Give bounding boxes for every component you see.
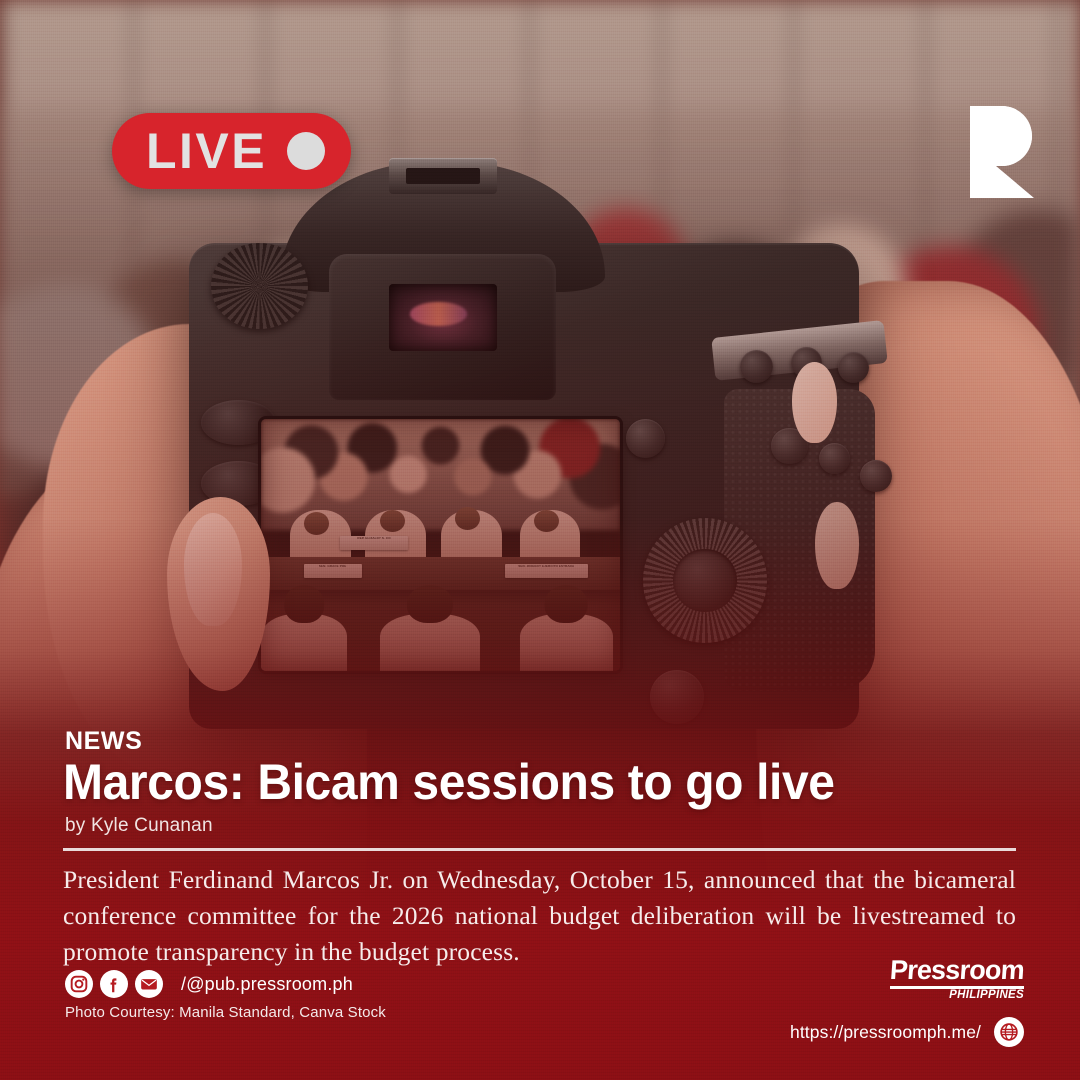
live-badge-label: LIVE — [146, 126, 267, 176]
section-kicker: NEWS — [65, 727, 142, 756]
divider — [63, 848, 1016, 851]
record-dot-icon — [287, 132, 325, 170]
article-body-text: President Ferdinand Marcos Jr. on Wednes… — [63, 865, 1016, 966]
byline: by Kyle Cunanan — [65, 815, 213, 837]
social-handle: /@pub.pressroom.ph — [181, 974, 353, 995]
article-body: President Ferdinand Marcos Jr. on Wednes… — [63, 862, 1016, 971]
website-url: https://pressroomph.me/ — [790, 1022, 981, 1043]
footer-left: /@pub.pressroom.ph Photo Courtesy: Manil… — [65, 970, 386, 1021]
pressroom-r-logomark[interactable] — [962, 98, 1042, 198]
facebook-icon[interactable] — [100, 970, 128, 998]
globe-icon[interactable] — [994, 1017, 1024, 1047]
photo-courtesy: Photo Courtesy: Manila Standard, Canva S… — [65, 1004, 386, 1021]
pressroom-wordmark-sub: PHILIPPINES — [890, 990, 1024, 1002]
news-graphic-card: REP. ELIZALDY S. CO SEN. GRACE POE SEN. … — [0, 0, 1080, 1080]
social-links: /@pub.pressroom.ph — [65, 970, 386, 998]
instagram-icon[interactable] — [65, 970, 93, 998]
website-row[interactable]: https://pressroomph.me/ — [790, 1017, 1024, 1047]
pressroom-wordmark[interactable]: Pressroom PHILIPPINES — [890, 958, 1024, 1002]
footer-right: Pressroom PHILIPPINES https://pressroomp… — [790, 958, 1024, 1047]
live-badge[interactable]: LIVE — [112, 113, 351, 189]
page-title: Marcos: Bicam sessions to go live — [63, 756, 835, 809]
email-icon[interactable] — [135, 970, 163, 998]
pressroom-wordmark-name: Pressroom — [889, 958, 1025, 984]
